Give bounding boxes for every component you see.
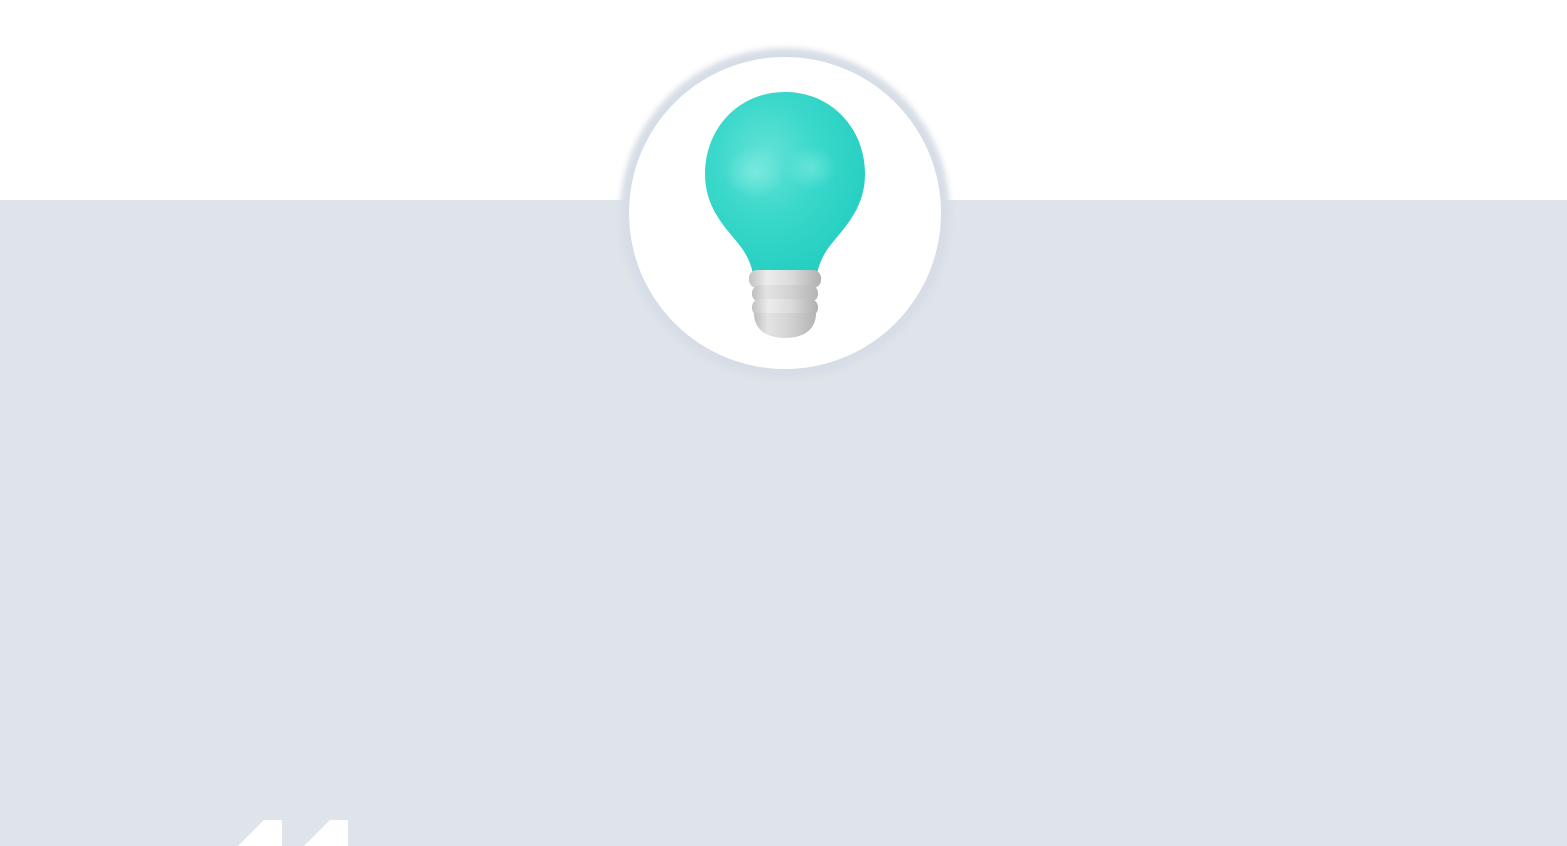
tip-callout-card: You’ll usually need ABOUT A YEARto plan … bbox=[0, 0, 1567, 846]
lightbulb-icon bbox=[697, 88, 873, 340]
lightbulb-badge bbox=[620, 48, 950, 378]
quote-block: You’ll usually need ABOUT A YEARto plan … bbox=[0, 404, 1567, 644]
quote-open-icon bbox=[228, 820, 348, 846]
